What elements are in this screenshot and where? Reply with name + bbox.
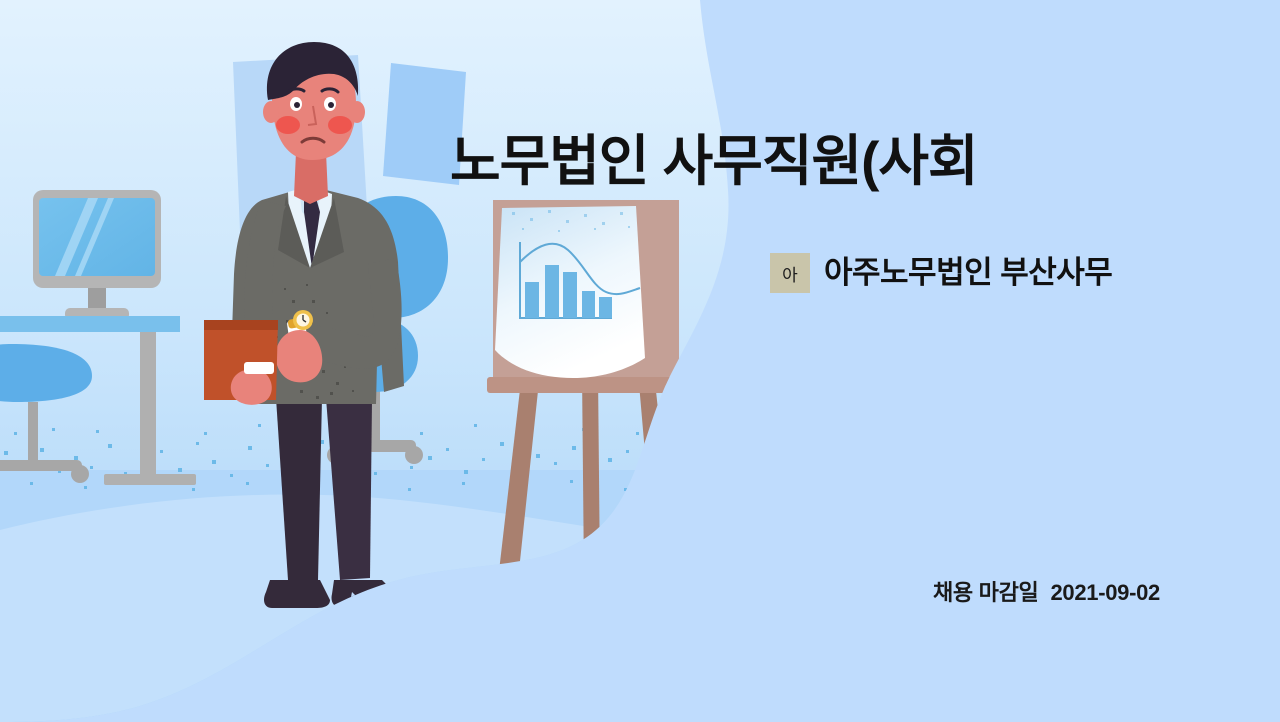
deadline-label: 채용 마감일	[933, 580, 1039, 605]
shoe-left	[264, 580, 330, 608]
desk-foot	[104, 474, 196, 485]
deadline-date: 2021-09-02	[1050, 580, 1160, 605]
shirt-cuff-left	[244, 362, 274, 374]
shoe-right	[331, 580, 401, 608]
hand-left	[231, 370, 272, 405]
deadline-row: 채용 마감일2021-09-02	[933, 575, 1160, 607]
office-illustration	[0, 0, 760, 722]
company-logo-badge: 아	[770, 253, 810, 293]
company-row[interactable]: 아 아주노무법인 부산사무	[770, 250, 1112, 296]
flipchart-paper	[495, 206, 645, 378]
desk-leg	[140, 332, 156, 478]
job-posting-card: 노무법인 사무직원(사회 아 아주노무법인 부산사무 채용 마감일2021-09…	[0, 0, 1280, 722]
easel	[487, 200, 685, 580]
company-name: 아주노무법인 부산사무	[824, 253, 1112, 293]
illustration-blob	[0, 0, 760, 722]
page-title: 노무법인 사무직원(사회	[450, 129, 1160, 193]
